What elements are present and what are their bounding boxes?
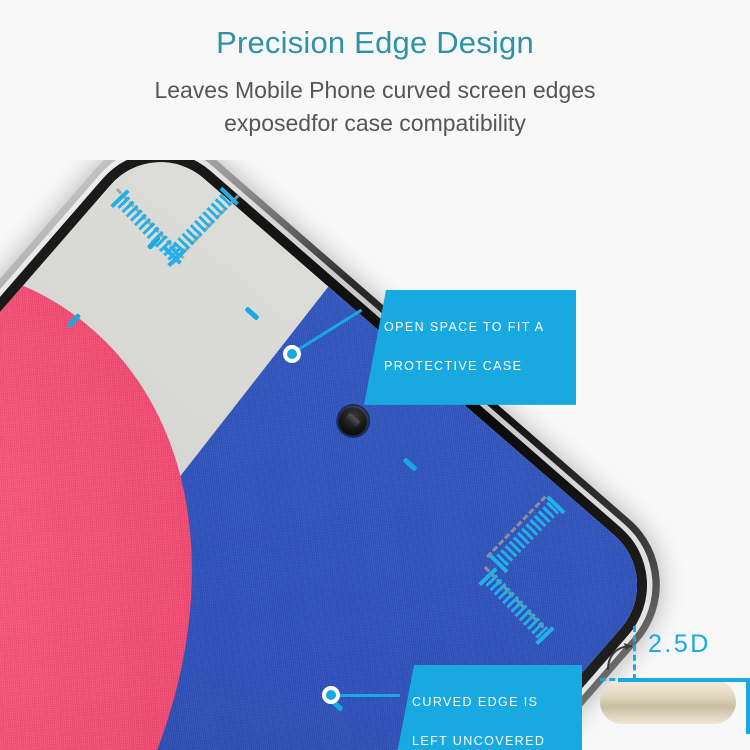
page-subtitle-line-1: Leaves Mobile Phone curved screen edges (154, 77, 595, 103)
callout-curved-edge: CURVED EDGE IS LEFT UNCOVERED (392, 665, 582, 750)
phone-screen (0, 160, 664, 750)
glass-cross-section (600, 680, 736, 724)
product-feature-image: Precision Edge Design Leaves Mobile Phon… (0, 0, 750, 750)
callout-open-space-line-1: OPEN SPACE TO FIT A (384, 318, 562, 337)
edge-thickness-label: 2.5D (648, 630, 711, 659)
callout-anchor-icon (322, 686, 340, 704)
page-subtitle-line-2: exposedfor case compatibility (224, 110, 526, 136)
callout-open-space-line-2: PROTECTIVE CASE (384, 357, 562, 376)
mobile-phone (0, 160, 695, 750)
edge-thickness-diagram: 2.5D (600, 618, 750, 750)
curved-arrow-icon (604, 640, 638, 674)
dimension-rule-vertical (746, 678, 750, 734)
callout-open-space: OPEN SPACE TO FIT A PROTECTIVE CASE (364, 290, 576, 405)
callout-leader-line (332, 694, 400, 697)
callout-curved-edge-line-2: LEFT UNCOVERED (412, 732, 568, 750)
page-subtitle: Leaves Mobile Phone curved screen edges … (0, 60, 750, 139)
header: Precision Edge Design Leaves Mobile Phon… (0, 0, 750, 139)
callout-curved-edge-line-1: CURVED EDGE IS (412, 693, 568, 712)
callout-anchor-icon (283, 345, 301, 363)
dimension-rule-horizontal (618, 678, 750, 682)
page-title: Precision Edge Design (0, 0, 750, 60)
dashed-guide-icon (600, 678, 634, 681)
